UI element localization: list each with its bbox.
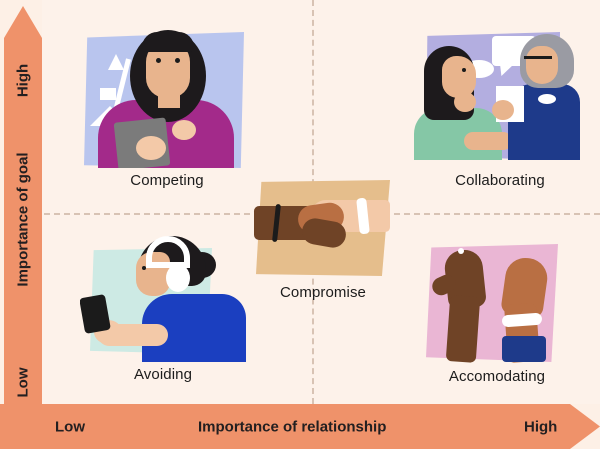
diagram-canvas: High Importance of goal Low Low Importan… [0, 0, 600, 449]
x-axis-title: Importance of relationship [198, 418, 386, 435]
collaborating-figure-left-hand [454, 92, 476, 112]
competing-figure-hand-left [136, 136, 166, 160]
collaborating-figure-left-face [442, 56, 476, 98]
competing-figure-eye-right [175, 58, 180, 63]
collaborating-illustration [412, 24, 588, 168]
quadrant-compromise-label: Compromise [280, 284, 366, 301]
y-axis-high-label: High [15, 64, 32, 97]
accomodating-illustration [412, 238, 582, 364]
competing-figure-eye-left [156, 58, 161, 63]
competing-figure-hand-right [172, 120, 196, 140]
ring-detail [458, 248, 464, 254]
collaborating-figure-left-forearm [464, 132, 512, 150]
collaborating-figure-left-eye [462, 68, 466, 72]
quadrant-collaborating[interactable]: Collaborating [412, 24, 588, 189]
quadrant-accomodating[interactable]: Accomodating [412, 238, 582, 385]
avoiding-illustration [80, 232, 246, 362]
x-axis-low-label: Low [55, 418, 85, 435]
accomodating-sleeve [502, 336, 546, 362]
y-axis-title: Importance of goal [15, 152, 32, 286]
y-axis-low-label: Low [15, 368, 32, 398]
competing-figure-neck [158, 92, 180, 108]
target-doodle [100, 88, 116, 100]
raised-hand-dark-forearm [446, 295, 481, 363]
x-axis-arrow: Low Importance of relationship High [0, 404, 600, 449]
quadrant-competing-label: Competing [130, 172, 203, 189]
competing-figure-fringe [142, 32, 194, 52]
quadrant-compromise[interactable]: Compromise [248, 180, 398, 301]
x-axis-high-label: High [524, 418, 557, 435]
necklace-detail [538, 94, 556, 104]
y-axis-arrow: High Importance of goal Low [4, 6, 42, 449]
headphone-earcup [166, 264, 190, 292]
collaborating-figure-right-face [526, 46, 558, 84]
quadrant-accomodating-label: Accomodating [449, 368, 545, 385]
quadrant-avoiding-label: Avoiding [134, 366, 192, 383]
compromise-illustration [248, 180, 398, 280]
quadrant-collaborating-label: Collaborating [455, 172, 545, 189]
quadrant-competing[interactable]: Competing [76, 24, 258, 189]
competing-illustration [76, 24, 258, 168]
collaborating-figure-right-hand [492, 100, 514, 120]
glasses-icon [524, 56, 552, 59]
quadrant-avoiding[interactable]: Avoiding [80, 232, 246, 383]
